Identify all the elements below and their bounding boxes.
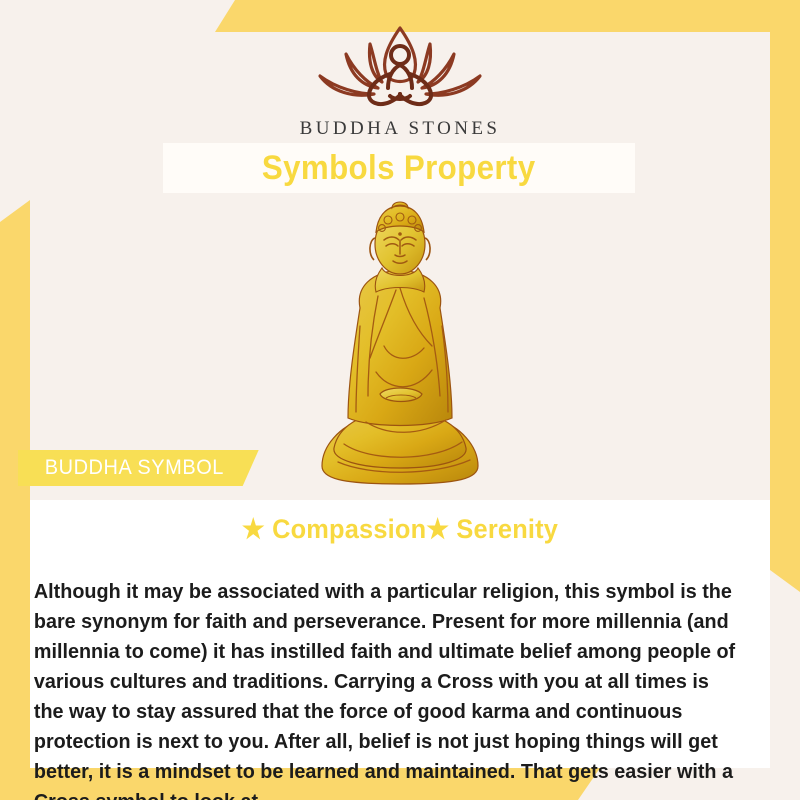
brand-header: BUDDHA STONES xyxy=(0,22,800,140)
infographic-poster: BUDDHA STONES Symbols Property xyxy=(0,0,800,800)
content-subtitle: ★ Compassion★ Serenity xyxy=(52,514,748,545)
lotus-meditation-icon xyxy=(306,22,494,114)
content-panel: ★ Compassion★ Serenity Although it may b… xyxy=(30,500,770,768)
brand-name: BUDDHA STONES xyxy=(0,118,800,140)
page-title: Symbols Property xyxy=(262,149,536,188)
title-banner: Symbols Property xyxy=(163,143,635,193)
category-tag: BUDDHA SYMBOL xyxy=(18,450,259,486)
seated-buddha-statue-icon xyxy=(300,196,500,496)
decor-band-left xyxy=(0,200,30,800)
content-body: Although it may be associated with a par… xyxy=(30,577,744,800)
category-tag-label: BUDDHA SYMBOL xyxy=(45,456,224,480)
